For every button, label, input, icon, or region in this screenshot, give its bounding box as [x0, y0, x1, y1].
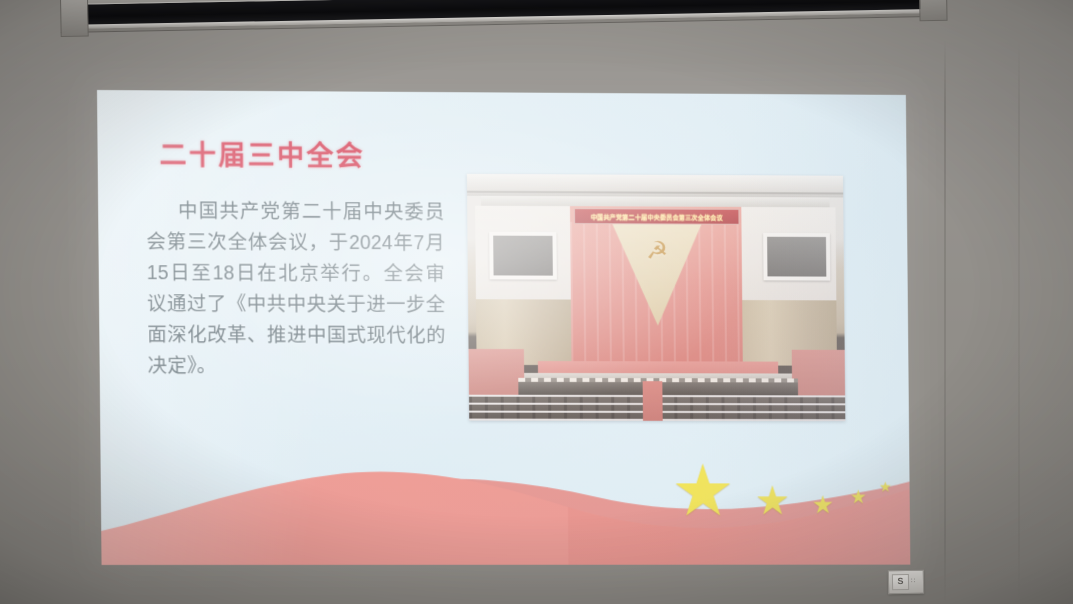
wall-seam: [1018, 40, 1020, 604]
wall-switch-plate[interactable]: S ∷: [888, 570, 924, 595]
photo-floor-right: [792, 350, 845, 396]
slide-decoration-waves: ★ ★ ★ ★ ★: [100, 435, 910, 565]
star-icon: ★: [755, 481, 791, 521]
photo-banner-text: 中国共产党第二十届中央委员会第三次全体会议: [591, 212, 723, 222]
wave-svg: [100, 435, 910, 565]
star-icon: ★: [879, 480, 891, 494]
projected-slide-area[interactable]: 二十届三中全会 中国共产党第二十届中央委员会第三次全体会议，于2024年7月15…: [97, 90, 910, 565]
wave-back: [101, 478, 911, 565]
wave-accent: [568, 489, 911, 565]
housing-bracket-left: [60, 0, 89, 37]
presentation-slide: 二十届三中全会 中国共产党第二十届中央委员会第三次全体会议，于2024年7月15…: [97, 90, 910, 565]
wall-seam: [944, 40, 946, 604]
photo-center-aisle: [643, 381, 663, 421]
photo-wall-panel-left: [489, 232, 557, 280]
slide-photo: ☭ 中国共产党第二十届中央委员会第三次全体会议: [467, 174, 845, 421]
star-icon: ★: [812, 493, 834, 518]
light-switch[interactable]: S: [892, 574, 909, 590]
star-icon: ★: [850, 488, 867, 507]
wave-front: [101, 472, 911, 565]
photo-wall-panel-right: [763, 233, 830, 281]
star-icon: ★: [671, 456, 735, 527]
slide-body-text: 中国共产党第二十届中央委员会第三次全体会议，于2024年7月15日至18日在北京…: [146, 196, 446, 382]
screenshot-root: Redleaf 二十届三中全会 中国共产党第二十届中央委员会第三次全体会议，于2…: [0, 0, 1073, 604]
party-emblem-icon: ☭: [643, 236, 671, 266]
slide-title: 二十届三中全会: [159, 133, 365, 173]
photo-floor-left: [469, 349, 525, 395]
housing-bracket-right: [919, 0, 948, 21]
photo-meeting-banner: 中国共产党第二十届中央委员会第三次全体会议: [574, 208, 740, 225]
socket-icon: ∷: [911, 579, 916, 585]
